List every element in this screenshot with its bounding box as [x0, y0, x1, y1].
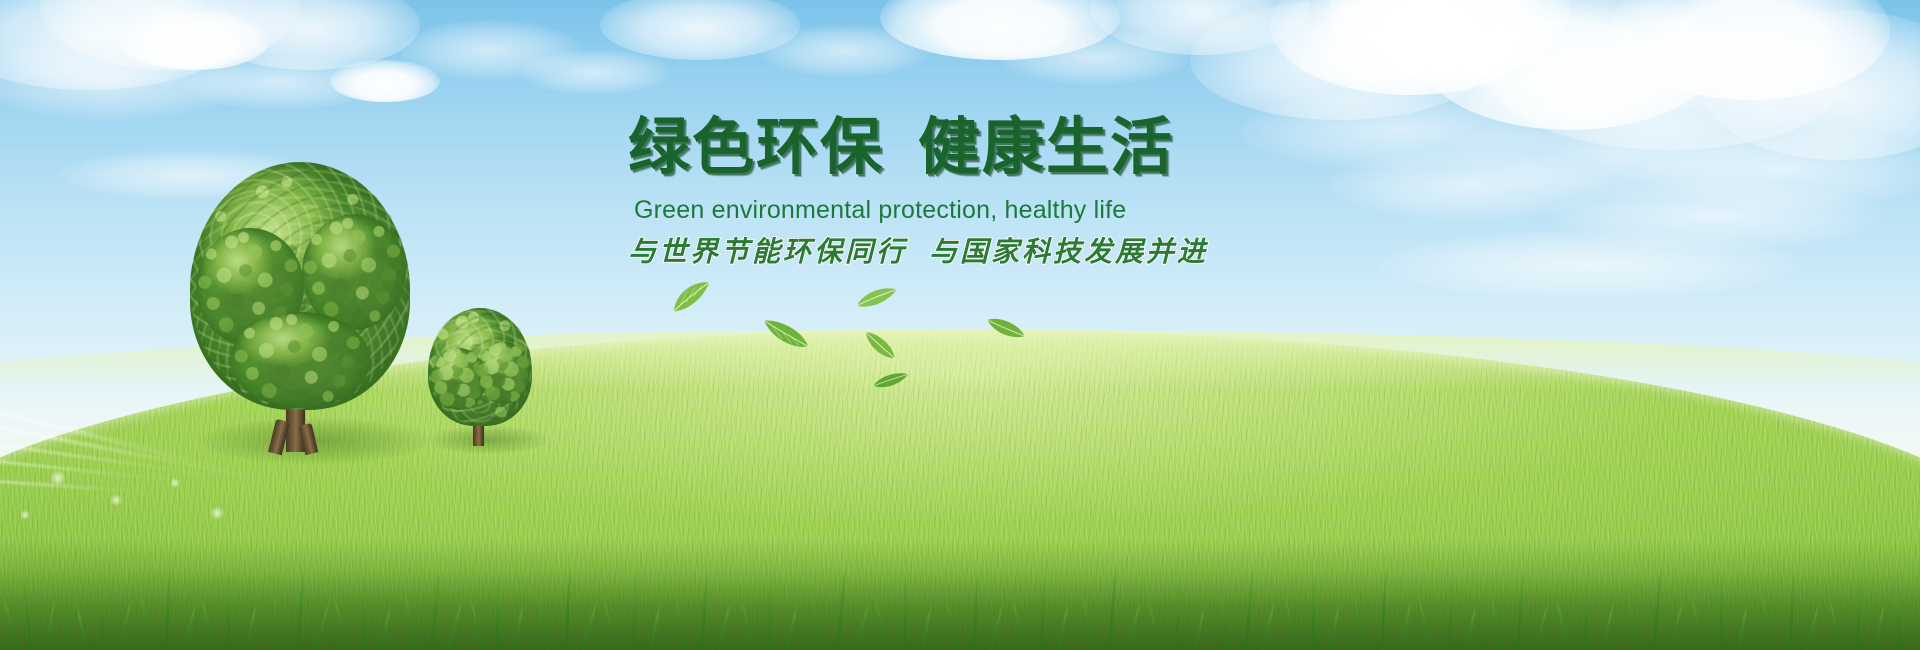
grass-blade — [1283, 593, 1299, 650]
grass-blade — [988, 601, 1005, 650]
grass-blade — [180, 602, 198, 650]
cloud-shape — [0, 0, 240, 90]
grass-blade — [535, 589, 551, 650]
grass-blade — [1759, 589, 1775, 650]
cloud-shape — [1000, 30, 1190, 85]
grass-blade — [1217, 587, 1231, 650]
grass-blade — [164, 570, 171, 650]
grass-blade — [1555, 597, 1571, 650]
cloud-shape — [1500, 20, 1840, 150]
grass-blade — [648, 605, 661, 650]
grass-blade — [1146, 597, 1163, 650]
cloud-shape — [200, 0, 420, 70]
cloud-shape — [1090, 0, 1310, 55]
cloud-shape — [1380, 230, 1800, 300]
grass-blade — [904, 574, 907, 650]
grass-blade — [1380, 568, 1387, 650]
cloud-shape — [1190, 0, 1490, 120]
grass-blade — [564, 566, 572, 650]
grass-blade — [920, 605, 932, 650]
grass-blade — [312, 600, 331, 650]
grass-blade — [496, 580, 499, 650]
cloud-shape — [760, 25, 930, 77]
grass-blade — [1804, 601, 1821, 650]
grass-blade — [1736, 605, 1748, 650]
cloud-shape — [520, 50, 670, 95]
grass-blade — [1396, 600, 1413, 650]
grass-blade — [1351, 589, 1367, 650]
big-tree-canopy-lobe — [230, 312, 370, 408]
grass-blade — [200, 595, 217, 650]
grass-blade — [1176, 580, 1180, 650]
cloud-shape — [330, 60, 440, 102]
grass-blade — [469, 597, 485, 650]
cloud-shape — [180, 55, 380, 110]
grass-blade — [244, 603, 258, 650]
grass-blade — [116, 597, 133, 650]
foliage-detail — [230, 312, 370, 408]
cloud-shape — [1240, 90, 1560, 170]
green-eco-banner: 绿色环保健康生活 Green environmental protection,… — [0, 0, 1920, 650]
cloud-shape — [1550, 180, 1880, 250]
cloud-shape — [120, 10, 270, 70]
small-tree — [428, 308, 532, 440]
cloud-shape — [1640, 130, 1920, 210]
grass-blade — [700, 570, 709, 650]
cloud-shape — [880, 0, 1120, 60]
cloud-shape — [400, 20, 580, 80]
grass-blade — [44, 598, 56, 650]
cloud-shape — [600, 0, 800, 60]
grass-blade — [943, 589, 959, 650]
grass-blade — [1108, 566, 1117, 650]
grass-blade — [296, 568, 305, 650]
grass-blade — [1689, 593, 1707, 650]
grass-blade — [784, 603, 799, 650]
grass-blade — [1584, 578, 1588, 650]
grass-blade — [378, 605, 392, 650]
big-tree — [190, 162, 410, 452]
grass-blade — [1893, 584, 1903, 650]
grass-blade — [430, 572, 440, 650]
grass-blade — [673, 591, 687, 650]
cloud-shape — [1330, 0, 1570, 80]
grass-blade — [1532, 602, 1550, 650]
grass-blade — [872, 594, 891, 650]
grass-blade — [1312, 574, 1315, 650]
grass-blade — [1489, 591, 1503, 650]
grass-blade — [1856, 576, 1862, 650]
grass-blade — [1625, 587, 1639, 650]
grass-blade — [740, 597, 755, 650]
grass-blade — [1652, 566, 1663, 650]
grass-blade — [1516, 572, 1525, 650]
grass-blade — [1192, 605, 1206, 650]
grass-blade — [580, 600, 598, 650]
grass-blade — [1464, 605, 1477, 650]
cloud-shape — [1420, 0, 1720, 130]
grass-blade — [1328, 603, 1341, 650]
grass-blade — [1040, 576, 1046, 650]
grass-blade — [446, 601, 463, 650]
grass-blade — [512, 603, 525, 650]
grass-blade — [602, 595, 619, 650]
grass-blade — [1056, 603, 1070, 650]
grass-blade — [1788, 570, 1795, 650]
grass-blade — [1124, 600, 1142, 650]
grass-blades — [0, 530, 1920, 650]
grass-blade — [632, 576, 638, 650]
cloud-shape — [40, 0, 300, 70]
cloud-shape — [1610, 0, 1890, 100]
cloud-shape — [1270, 0, 1550, 95]
grass-blade — [1081, 591, 1095, 650]
cloud-shape — [0, 40, 250, 120]
grass-blade — [972, 572, 979, 650]
grass-blade — [1668, 599, 1684, 650]
grass-blade — [1720, 574, 1723, 650]
cloud-shape — [1450, 110, 1810, 200]
grass-blade — [271, 586, 283, 650]
grass-blade — [1600, 603, 1615, 650]
grass-blade — [1260, 601, 1276, 650]
grass-blade — [852, 600, 871, 650]
foliage-detail — [478, 342, 530, 404]
small-tree-canopy-lobe — [478, 342, 530, 404]
grass-blade — [1872, 603, 1886, 650]
grass-blade — [1011, 595, 1027, 650]
grass-blade — [404, 591, 417, 650]
grass-blade — [716, 601, 732, 650]
cloud-shape — [1700, 10, 1920, 160]
grass-blade — [1244, 570, 1254, 650]
cloud-shape — [1330, 150, 1610, 220]
grass-blade — [100, 582, 106, 650]
grass-blade — [332, 594, 351, 650]
grass-blade — [22, 574, 33, 650]
grass-blade — [139, 589, 153, 650]
grass-blade — [225, 576, 231, 650]
grass-blade — [76, 605, 89, 650]
grass-blade — [809, 587, 823, 650]
grass-blade — [362, 578, 366, 650]
grass-blade — [836, 568, 846, 650]
grass-blade — [1828, 595, 1843, 650]
grass-blade — [1448, 576, 1454, 650]
grass-blade — [1417, 596, 1435, 650]
grass-blade — [1, 594, 21, 650]
grass-blade — [768, 578, 772, 650]
